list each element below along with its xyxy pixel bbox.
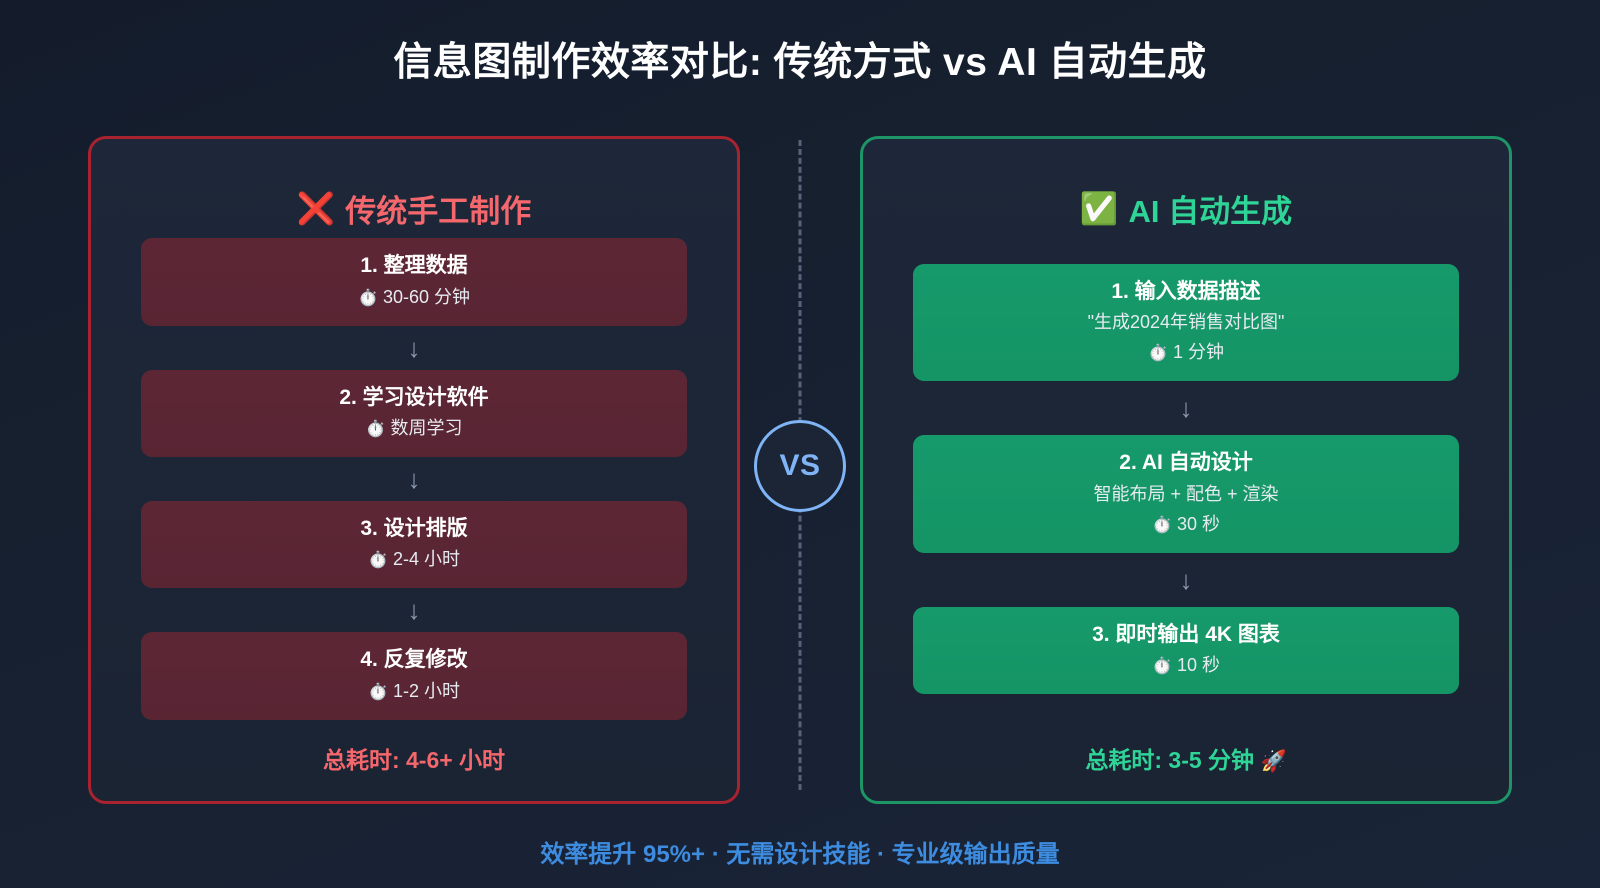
step-title: 2. AI 自动设计 (929, 449, 1443, 477)
ai-panel: ✅ AI 自动生成 1. 输入数据描述 "生成2024年销售对比图" ⏱️ 1 … (860, 136, 1512, 804)
step-duration: ⏱️ 30-60 分钟 (157, 284, 671, 311)
step-title: 3. 设计排版 (157, 515, 671, 543)
step-detail: "生成2024年销售对比图" (929, 309, 1443, 336)
footer-bar: 效率提升 95%+ · 无需设计技能 · 专业级输出质量 (0, 814, 1600, 888)
step-card: 1. 输入数据描述 "生成2024年销售对比图" ⏱️ 1 分钟 (913, 264, 1459, 381)
step-title: 1. 整理数据 (157, 252, 671, 280)
step-duration-text: 30 秒 (1177, 514, 1220, 534)
step-card: 1. 整理数据 ⏱️ 30-60 分钟 (141, 238, 687, 325)
step-card: 3. 设计排版 ⏱️ 2-4 小时 (141, 501, 687, 588)
step-duration: ⏱️ 数周学习 (157, 415, 671, 442)
step-duration-text: 10 秒 (1177, 655, 1220, 675)
flow-arrow-icon: ↓ (913, 381, 1459, 435)
step-card: 2. AI 自动设计 智能布局 + 配色 + 渲染 ⏱️ 30 秒 (913, 435, 1459, 552)
traditional-steps-list: 1. 整理数据 ⏱️ 30-60 分钟 ↓ 2. 学习设计软件 ⏱️ 数周学习 … (141, 231, 687, 727)
ai-panel-header: ✅ AI 自动生成 (913, 186, 1459, 231)
flow-arrow-icon: ↓ (913, 553, 1459, 607)
step-duration: ⏱️ 2-4 小时 (157, 546, 671, 573)
vs-badge: VS (754, 420, 846, 512)
step-title: 3. 即时输出 4K 图表 (929, 621, 1443, 649)
flow-arrow-icon: ↓ (141, 588, 687, 632)
page-title: 信息图制作效率对比: 传统方式 vs AI 自动生成 (393, 31, 1206, 87)
rocket-icon: 🚀 (1260, 750, 1286, 773)
ai-steps-list: 1. 输入数据描述 "生成2024年销售对比图" ⏱️ 1 分钟 ↓ 2. AI… (913, 231, 1459, 727)
stopwatch-icon: ⏱️ (358, 290, 378, 307)
step-card: 3. 即时输出 4K 图表 ⏱️ 10 秒 (913, 607, 1459, 694)
infographic-page: 信息图制作效率对比: 传统方式 vs AI 自动生成 ❌ 传统手工制作 1. 整… (0, 0, 1600, 888)
ai-total-time-text: 总耗时: 3-5 分钟 (1085, 747, 1254, 773)
traditional-panel: ❌ 传统手工制作 1. 整理数据 ⏱️ 30-60 分钟 ↓ 2. 学习设计软件… (88, 136, 740, 804)
stopwatch-icon: ⏱️ (1152, 658, 1172, 675)
step-title: 2. 学习设计软件 (157, 384, 671, 412)
vs-label: VS (779, 449, 820, 483)
flow-arrow-icon: ↓ (141, 326, 687, 370)
stopwatch-icon: ⏱️ (1148, 345, 1168, 362)
step-duration: ⏱️ 1-2 小时 (157, 678, 671, 705)
traditional-panel-title: 传统手工制作 (345, 186, 531, 231)
step-card: 2. 学习设计软件 ⏱️ 数周学习 (141, 370, 687, 457)
ai-total-time: 总耗时: 3-5 分钟 🚀 (913, 741, 1459, 775)
step-detail: 智能布局 + 配色 + 渲染 (929, 481, 1443, 508)
step-title: 4. 反复修改 (157, 646, 671, 674)
step-duration: ⏱️ 30 秒 (929, 511, 1443, 538)
step-duration-text: 数周学习 (390, 418, 462, 438)
step-duration-text: 30-60 分钟 (383, 287, 470, 307)
step-duration: ⏱️ 10 秒 (929, 652, 1443, 679)
stopwatch-icon: ⏱️ (368, 684, 388, 701)
step-duration-text: 2-4 小时 (393, 549, 460, 569)
title-bar: 信息图制作效率对比: 传统方式 vs AI 自动生成 (0, 0, 1600, 118)
footer-summary: 效率提升 95%+ · 无需设计技能 · 专业级输出质量 (540, 834, 1059, 869)
cross-mark-icon: ❌ (297, 193, 336, 224)
stopwatch-icon: ⏱️ (366, 421, 386, 438)
stopwatch-icon: ⏱️ (1152, 517, 1172, 534)
stopwatch-icon: ⏱️ (368, 552, 388, 569)
check-mark-icon: ✅ (1080, 193, 1119, 224)
step-title: 1. 输入数据描述 (929, 278, 1443, 306)
step-duration-text: 1 分钟 (1173, 342, 1224, 362)
ai-panel-title: AI 自动生成 (1128, 186, 1292, 231)
step-duration: ⏱️ 1 分钟 (929, 339, 1443, 366)
traditional-total-time: 总耗时: 4-6+ 小时 (141, 741, 687, 775)
traditional-panel-header: ❌ 传统手工制作 (141, 186, 687, 231)
step-duration-text: 1-2 小时 (393, 681, 460, 701)
comparison-area: ❌ 传统手工制作 1. 整理数据 ⏱️ 30-60 分钟 ↓ 2. 学习设计软件… (0, 118, 1600, 814)
step-card: 4. 反复修改 ⏱️ 1-2 小时 (141, 632, 687, 719)
flow-arrow-icon: ↓ (141, 457, 687, 501)
